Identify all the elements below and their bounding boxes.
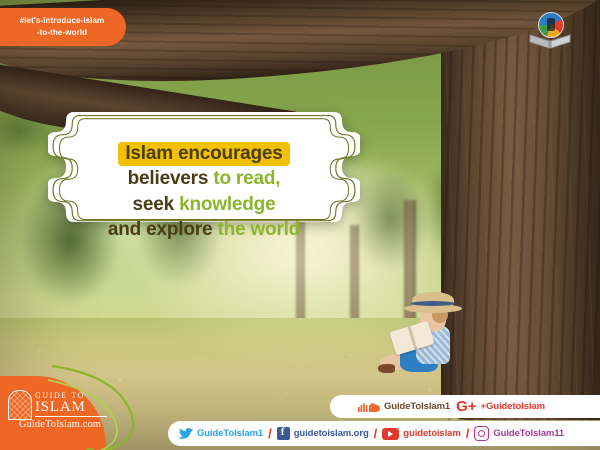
facebook-handle: guidetoislam.org [294,428,369,439]
twitter-icon [178,428,193,440]
quote-line-3: seek knowledge [133,194,276,216]
soundcloud-icon [358,401,380,413]
social-bar-bottom: GuideToIslam1 / guidetoislam.org / guide… [168,421,600,446]
mosque-arch-icon [8,390,32,420]
quote-line-2: believers to read, [128,168,281,190]
instagram-handle: GuideToIslam11 [493,428,564,439]
hashtag-banner: #let's-introduce-Islam -to-the-world [0,8,126,46]
social-item-googleplus[interactable]: G+ +GuidetoIslam [456,399,545,414]
globe-book-emblem [529,12,571,52]
separator: / [466,426,470,441]
social-item-soundcloud[interactable]: GuideToIslam1 [358,401,450,413]
social-item-facebook[interactable]: guidetoislam.org [277,427,369,440]
social-bar-top: GuideToIslam1 G+ +GuidetoIslam [330,395,600,418]
logo-islam: ISLAM [35,399,86,416]
googleplus-handle: +GuidetoIslam [481,401,545,412]
logo-website-url: GuideToIslam.com [8,419,112,430]
youtube-handle: guidetoislam [403,428,460,439]
hashtag-line-1: #let's-introduce-Islam [8,15,116,27]
hashtag-line-2: -to-the-world [8,27,116,39]
separator: / [374,426,378,441]
googleplus-icon: G+ [456,399,476,414]
soundcloud-handle: GuideToIslam1 [384,401,450,412]
poster: #let's-introduce-Islam -to-the-world Isl… [0,0,600,450]
logo-divider [35,416,107,417]
twitter-handle: GuideToIslam1 [197,428,263,439]
social-item-youtube[interactable]: guidetoislam [382,428,460,440]
social-item-twitter[interactable]: GuideToIslam1 [178,428,263,440]
separator: / [268,426,272,441]
youtube-icon [382,428,399,440]
social-item-instagram[interactable]: GuideToIslam11 [474,426,564,441]
quote-text-block: Islam encourages believers to read, seek… [48,108,360,276]
quote-highlight: Islam encourages [118,142,289,166]
open-book-icon [529,31,571,49]
facebook-icon [277,427,290,440]
guide-to-islam-logo[interactable]: GUIDE TO ISLAM GuideToIslam.com [8,388,112,434]
quote-line-1: Islam encourages [118,143,289,165]
instagram-icon [474,426,489,441]
quote-line-4: and explore the world [108,219,300,241]
